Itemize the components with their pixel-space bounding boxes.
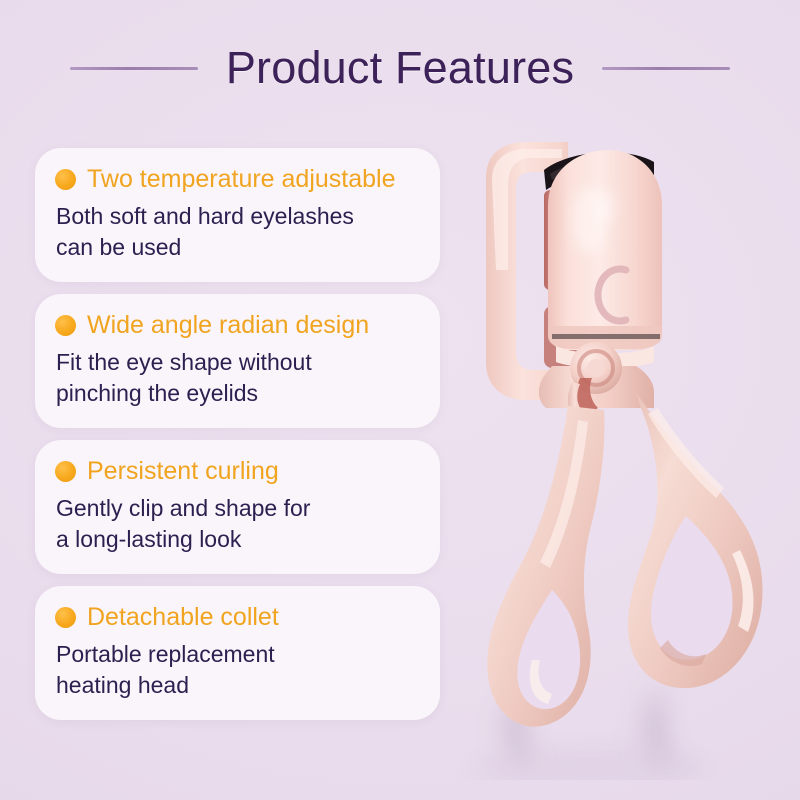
orange-dot-icon [55, 169, 76, 190]
product-image [440, 120, 800, 780]
left-finger-loop [487, 406, 604, 727]
orange-dot-icon [55, 461, 76, 482]
feature-card-list: Two temperature adjustable Both soft and… [35, 148, 440, 720]
feature-card: Wide angle radian design Fit the eye sha… [35, 294, 440, 428]
feature-body: Both soft and hard eyelashes can be used [55, 201, 420, 264]
feature-card-header: Wide angle radian design [55, 311, 420, 341]
feature-body-line: can be used [56, 232, 420, 263]
orange-dot-icon [55, 315, 76, 336]
feature-card: Two temperature adjustable Both soft and… [35, 148, 440, 282]
feature-title: Persistent curling [87, 457, 279, 487]
feature-body-line: Portable replacement [56, 639, 420, 670]
feature-card-header: Detachable collet [55, 603, 420, 633]
feature-body-line: Gently clip and shape for [56, 493, 420, 524]
feature-body-line: Both soft and hard eyelashes [56, 201, 420, 232]
feature-body: Fit the eye shape without pinching the e… [55, 347, 420, 410]
orange-dot-icon [55, 607, 76, 628]
page-header: Product Features [0, 30, 800, 105]
decorative-line-left [70, 67, 198, 70]
feature-body-line: Fit the eye shape without [56, 347, 420, 378]
feature-card-header: Persistent curling [55, 457, 420, 487]
feature-card: Persistent curling Gently clip and shape… [35, 440, 440, 574]
feature-title: Detachable collet [87, 603, 279, 633]
feature-title: Two temperature adjustable [87, 165, 396, 195]
feature-card: Detachable collet Portable replacement h… [35, 586, 440, 720]
feature-body: Gently clip and shape for a long-lasting… [55, 493, 420, 556]
feature-title: Wide angle radian design [87, 311, 369, 341]
infographic-page: Product Features Two temperature adjusta… [0, 0, 800, 800]
decorative-line-right [602, 67, 730, 70]
heating-head-cylinder [548, 150, 662, 368]
feature-body: Portable replacement heating head [55, 639, 420, 702]
feature-card-header: Two temperature adjustable [55, 165, 420, 195]
feature-body-line: a long-lasting look [56, 524, 420, 555]
page-title: Product Features [226, 45, 574, 90]
feature-body-line: pinching the eyelids [56, 378, 420, 409]
feature-body-line: heating head [56, 670, 420, 701]
right-finger-loop [628, 392, 763, 688]
